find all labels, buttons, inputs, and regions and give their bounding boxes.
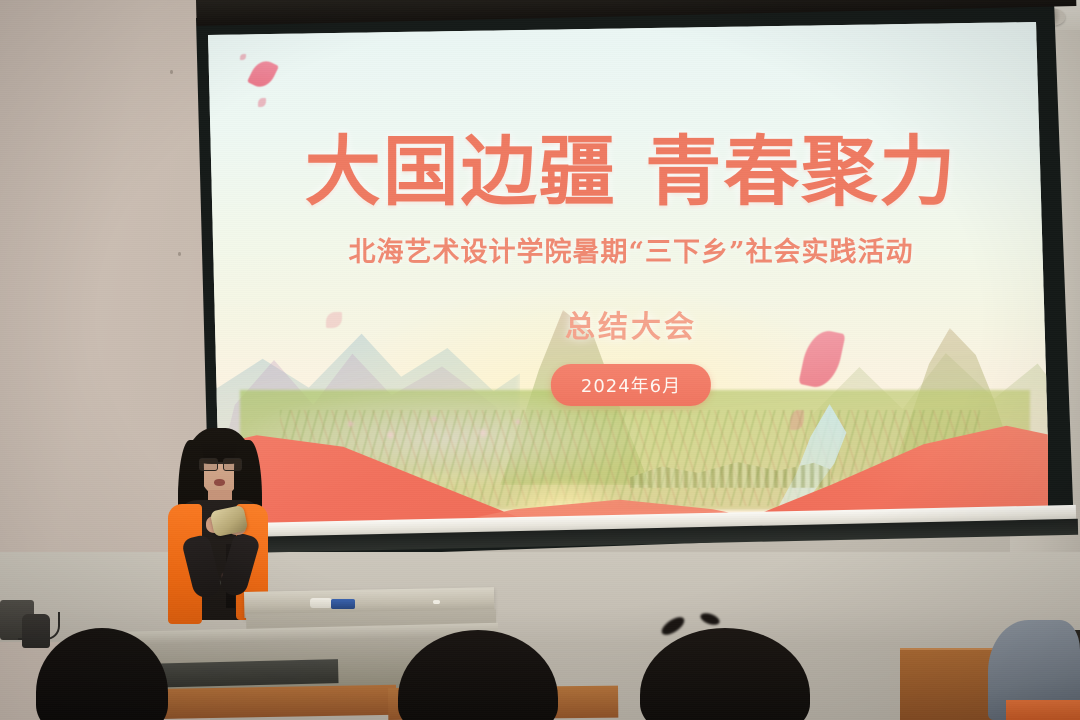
presentation-slide: 大国边疆 青春聚力 北海艺术设计学院暑期“三下乡”社会实践活动 总结大会 202… <box>208 22 1048 534</box>
falling-petal-icon <box>240 54 246 60</box>
falling-petal-icon <box>247 57 279 92</box>
podium-slot <box>138 659 339 688</box>
slide-section-heading: 总结大会 <box>208 302 1048 346</box>
desk-item-blue-box <box>331 599 355 609</box>
village-blossom-cluster <box>320 404 540 454</box>
slide-subtitle: 北海艺术设计学院暑期“三下乡”社会实践活动 <box>208 230 1048 269</box>
chair-back <box>22 614 50 648</box>
wall-speck <box>170 70 173 74</box>
classroom-photo-scene: 大国边疆 青春聚力 北海艺术设计学院暑期“三下乡”社会实践活动 总结大会 202… <box>0 0 1080 720</box>
desk-item-white-marker <box>310 598 332 608</box>
audience-person-right-lower <box>1006 700 1080 720</box>
glasses-bridge <box>216 462 223 464</box>
projection-screen-surface: 大国边疆 青春聚力 北海艺术设计学院暑期“三下乡”社会实践活动 总结大会 202… <box>208 22 1048 534</box>
falling-petal-icon <box>258 98 266 107</box>
glasses-icon <box>198 458 242 469</box>
glasses-lens-left <box>199 458 218 471</box>
slide-date-badge: 2024年6月 <box>551 364 711 406</box>
speaker-mouth <box>214 479 225 486</box>
desk-item-small <box>433 600 440 604</box>
glasses-lens-right <box>223 458 242 471</box>
wall-speck <box>178 252 181 256</box>
slide-title: 大国边疆 青春聚力 <box>208 110 1048 220</box>
